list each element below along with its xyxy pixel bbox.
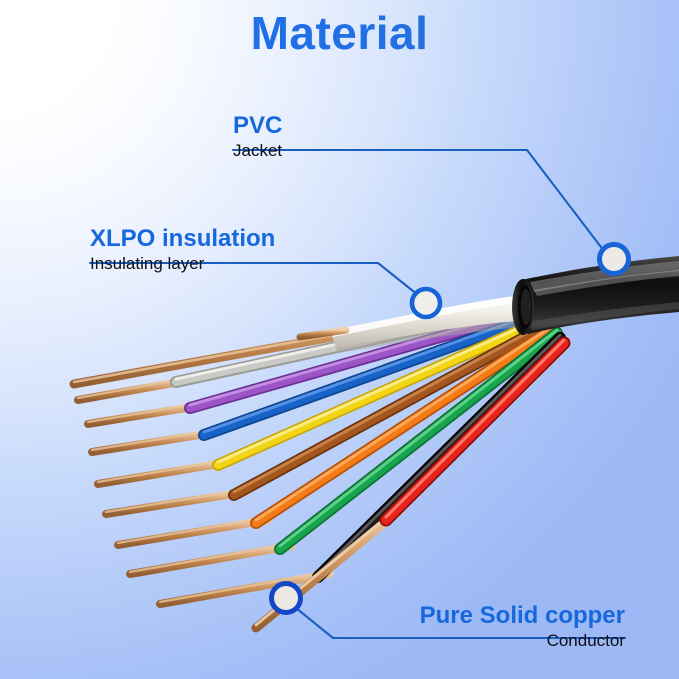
callout-xlpo: XLPO insulation Insulating layer: [90, 226, 275, 274]
callout-pvc-subtitle: Jacket: [233, 138, 282, 161]
callout-pvc: PVC Jacket: [233, 113, 282, 161]
callout-pvc-title: PVC: [233, 113, 282, 138]
pvc-jacket: [512, 256, 679, 335]
product-infographic: Material PVC Jacket XLPO insulation Insu…: [0, 0, 679, 679]
callout-dot-icon-pvc: [600, 245, 629, 274]
callout-copper-title: Pure Solid copper: [325, 603, 625, 628]
callout-dot-icon-copper: [272, 584, 301, 613]
wire-bundle: [74, 298, 564, 628]
callout-xlpo-subtitle: Insulating layer: [90, 251, 275, 274]
cable-illustration: [0, 0, 679, 679]
leader-line-pvc: [233, 150, 604, 251]
callout-xlpo-title: XLPO insulation: [90, 226, 275, 251]
callout-copper-subtitle: Conductor: [325, 628, 625, 651]
page-title: Material: [0, 6, 679, 60]
callout-dot-icon-xlpo: [412, 289, 440, 317]
callout-copper: Pure Solid copper Conductor: [325, 603, 625, 651]
